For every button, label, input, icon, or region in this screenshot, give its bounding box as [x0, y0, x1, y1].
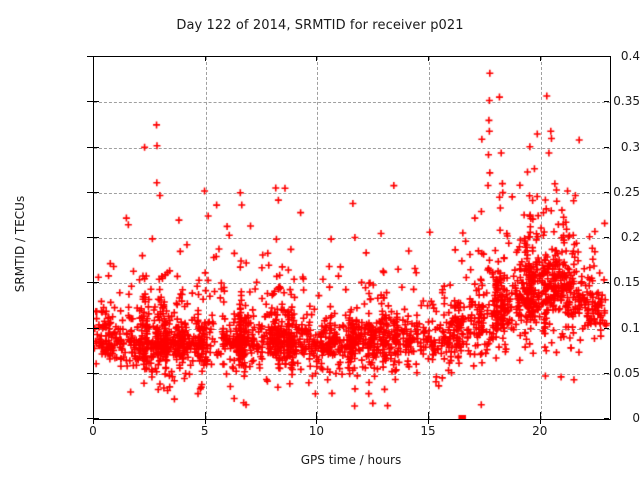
y-tick-label: 0.4	[556, 49, 640, 63]
y-axis-tick	[94, 282, 99, 283]
y-tick-label: 0.1	[556, 321, 640, 335]
y-axis-tick	[94, 373, 99, 374]
y-axis-tick	[94, 418, 99, 419]
x-tick-label: 0	[63, 424, 123, 438]
x-axis-tick	[428, 56, 429, 61]
y-axis-tick	[94, 237, 99, 238]
y-tick-label: 0.35	[556, 94, 640, 108]
y-axis-tick	[94, 56, 99, 57]
y-axis-tick	[87, 282, 93, 283]
y-axis-tick	[94, 192, 99, 193]
x-axis-tick	[93, 56, 94, 61]
x-axis-tick	[316, 412, 317, 418]
y-tick-label: 0.15	[556, 275, 640, 289]
y-tick-label: 0.3	[556, 140, 640, 154]
y-axis-tick	[94, 101, 99, 102]
plot-area	[93, 56, 611, 420]
x-tick-label: 15	[398, 424, 458, 438]
y-axis-tick	[87, 147, 93, 148]
y-axis-tick	[87, 328, 93, 329]
x-axis-tick	[205, 56, 206, 61]
x-axis-tick	[93, 412, 94, 418]
chart-title: Day 122 of 2014, SRMTID for receiver p02…	[0, 18, 640, 33]
chart-figure: Day 122 of 2014, SRMTID for receiver p02…	[0, 0, 640, 480]
plot-inner	[94, 57, 610, 419]
y-axis-tick	[87, 192, 93, 193]
y-axis-tick	[87, 101, 93, 102]
x-axis-tick	[540, 412, 541, 418]
x-tick-label: 5	[175, 424, 235, 438]
x-tick-label: 10	[286, 424, 346, 438]
x-axis-tick	[316, 56, 317, 61]
y-axis-tick	[87, 373, 93, 374]
y-axis-tick	[94, 147, 99, 148]
x-tick-label: 20	[510, 424, 570, 438]
x-axis-title: GPS time / hours	[93, 453, 609, 467]
scatter-data-layer	[94, 57, 610, 419]
y-axis-title: SRMTID / TECUs	[13, 144, 27, 344]
y-tick-label: 0.2	[556, 230, 640, 244]
x-axis-tick	[540, 56, 541, 61]
y-tick-label: 0.25	[556, 185, 640, 199]
x-axis-tick	[205, 412, 206, 418]
y-tick-label: 0	[556, 411, 640, 425]
y-axis-tick	[94, 328, 99, 329]
y-axis-tick	[87, 237, 93, 238]
y-tick-label: 0.05	[556, 366, 640, 380]
x-axis-tick	[428, 412, 429, 418]
